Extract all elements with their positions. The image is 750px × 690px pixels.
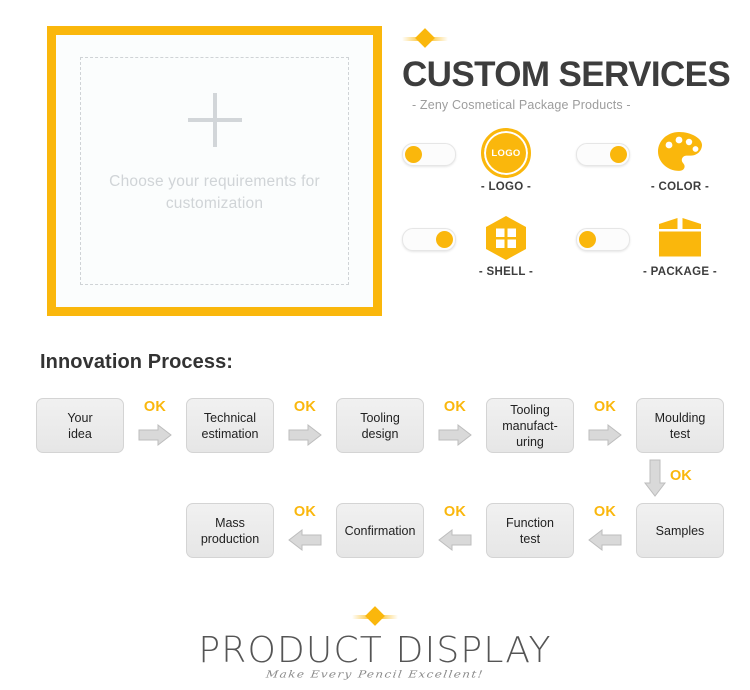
process-row-forward: Youridea OK Technicalestimation OK Tooli… xyxy=(36,398,724,453)
product-display-title: PRODUCT DISPLAY xyxy=(198,630,551,671)
process-step-box[interactable]: Mouldingtest xyxy=(636,398,724,453)
upload-dropzone[interactable]: Choose your requirements for customizati… xyxy=(80,57,349,285)
process-row-reverse: Massproduction OK Confirmation OK Functi… xyxy=(186,503,724,558)
option-label-shell: - SHELL - xyxy=(479,266,533,278)
toggle-shell[interactable] xyxy=(402,228,456,251)
ok-label: OK xyxy=(444,399,466,415)
process-step-box[interactable]: Toolingmanufact-uring xyxy=(486,398,574,453)
process-connector: OK xyxy=(124,398,186,453)
ornament-gem xyxy=(415,28,435,48)
option-label-color: - COLOR - xyxy=(651,181,709,193)
toggle-color[interactable] xyxy=(576,143,630,166)
service-option-package[interactable]: - PACKAGE - xyxy=(576,215,726,300)
process-step-box[interactable]: Toolingdesign xyxy=(336,398,424,453)
custom-services-panel: CUSTOM SERVICES - Zeny Cosmetical Packag… xyxy=(402,28,727,300)
arrow-left-icon xyxy=(438,529,472,551)
toggle-knob xyxy=(610,146,627,163)
option-body: - COLOR - xyxy=(639,130,721,193)
process-step-box[interactable]: Samples xyxy=(636,503,724,558)
diamond-ornament-icon xyxy=(402,28,448,50)
ok-label: OK xyxy=(594,504,616,520)
arrow-right-icon xyxy=(438,424,472,446)
toggle-package[interactable] xyxy=(576,228,630,251)
option-label-package: - PACKAGE - xyxy=(643,266,717,278)
services-title: CUSTOM SERVICES xyxy=(402,54,727,96)
ok-label: OK xyxy=(144,399,166,415)
process-connector: OK xyxy=(274,398,336,453)
ok-label: OK xyxy=(594,399,616,415)
arrow-right-icon xyxy=(288,424,322,446)
toggle-logo[interactable] xyxy=(402,143,456,166)
toggle-knob xyxy=(579,231,596,248)
option-body: LOGO - LOGO - xyxy=(465,130,547,193)
option-label-logo: - LOGO - xyxy=(481,181,531,193)
process-connector: OK xyxy=(574,398,636,453)
arrow-left-icon xyxy=(588,529,622,551)
process-heading: Innovation Process: xyxy=(40,351,233,374)
services-subtitle: - Zeny Cosmetical Package Products - xyxy=(412,98,727,112)
process-step-box[interactable]: Functiontest xyxy=(486,503,574,558)
diamond-ornament-icon xyxy=(352,606,398,628)
ok-label: OK xyxy=(444,504,466,520)
process-step-box[interactable]: Youridea xyxy=(36,398,124,453)
service-options-grid: LOGO - LOGO - - C xyxy=(402,130,727,300)
hexagon-shell-icon xyxy=(484,215,528,261)
package-box-icon xyxy=(653,215,707,261)
option-body: - PACKAGE - xyxy=(639,215,721,278)
option-body: - SHELL - xyxy=(465,215,547,278)
arrow-down-icon xyxy=(644,459,666,502)
product-display-section: PRODUCT DISPLAY Make Every Pencil Excell… xyxy=(0,606,750,681)
ok-label: OK xyxy=(670,468,692,484)
ornament-gem xyxy=(365,606,385,626)
logo-badge-text: LOGO xyxy=(481,128,531,178)
arrow-left-icon xyxy=(288,529,322,551)
arrow-right-icon xyxy=(138,424,172,446)
logo-badge-icon: LOGO xyxy=(481,130,531,176)
service-option-shell[interactable]: - SHELL - xyxy=(402,215,552,300)
palette-icon xyxy=(657,130,703,176)
toggle-knob xyxy=(436,231,453,248)
process-connector: OK xyxy=(274,503,336,558)
process-step-box[interactable]: Confirmation xyxy=(336,503,424,558)
service-option-logo[interactable]: LOGO - LOGO - xyxy=(402,130,552,215)
process-connector: OK xyxy=(574,503,636,558)
product-display-tagline: Make Every Pencil Excellent! xyxy=(265,668,484,679)
process-step-box[interactable]: Technicalestimation xyxy=(186,398,274,453)
ok-label: OK xyxy=(294,399,316,415)
arrow-right-icon xyxy=(588,424,622,446)
process-connector: OK xyxy=(424,503,486,558)
toggle-knob xyxy=(405,146,422,163)
ok-label: OK xyxy=(294,504,316,520)
process-connector-vertical: OK xyxy=(640,459,730,501)
customization-upload-frame[interactable]: Choose your requirements for customizati… xyxy=(47,26,382,316)
plus-icon xyxy=(188,93,242,147)
process-step-box[interactable]: Massproduction xyxy=(186,503,274,558)
upload-hint-text: Choose your requirements for customizati… xyxy=(105,171,325,215)
service-option-color[interactable]: - COLOR - xyxy=(576,130,726,215)
process-connector: OK xyxy=(424,398,486,453)
